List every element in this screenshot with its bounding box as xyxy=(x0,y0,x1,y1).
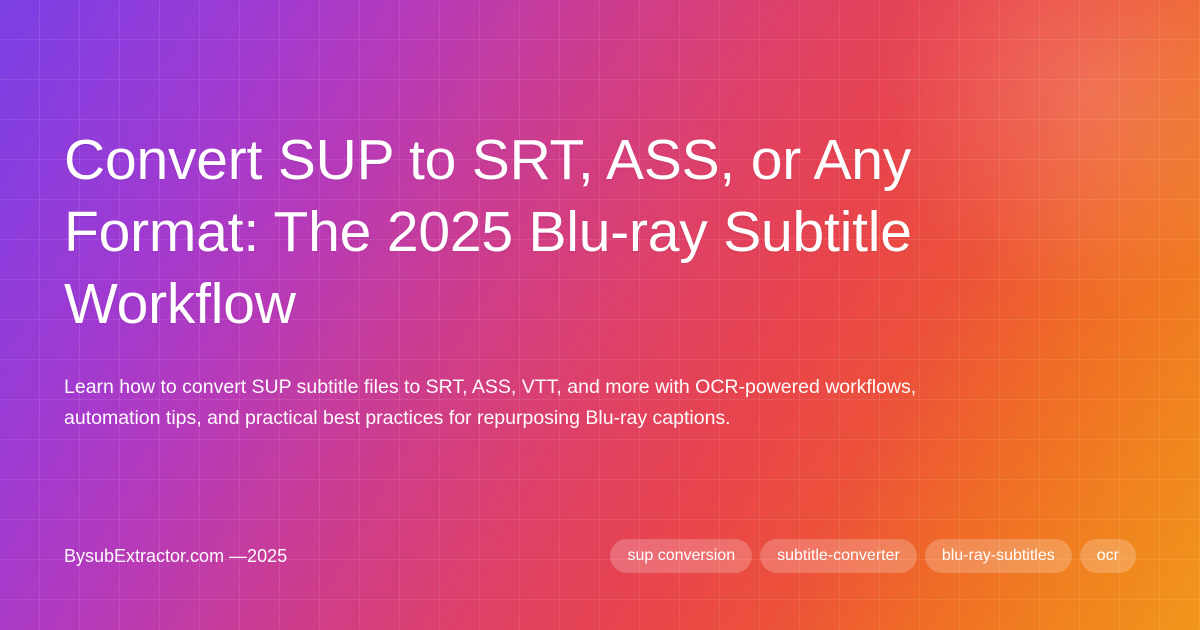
card-footer: BysubExtractor.com —2025 sup conversion … xyxy=(64,536,1136,576)
page-title: Convert SUP to SRT, ASS, or Any Format: … xyxy=(64,124,1064,340)
page-subtitle: Learn how to convert SUP subtitle files … xyxy=(64,372,944,434)
social-share-card: Convert SUP to SRT, ASS, or Any Format: … xyxy=(0,0,1200,630)
tag-chip[interactable]: blu-ray-subtitles xyxy=(925,539,1072,573)
tag-chip[interactable]: subtitle-converter xyxy=(760,539,917,573)
tag-chip[interactable]: ocr xyxy=(1080,539,1136,573)
tag-chip[interactable]: sup conversion xyxy=(610,539,752,573)
card-content: Convert SUP to SRT, ASS, or Any Format: … xyxy=(0,0,1200,630)
brand-label: BysubExtractor.com —2025 xyxy=(64,546,287,566)
tag-list: sup conversion subtitle-converter blu-ra… xyxy=(610,539,1136,573)
